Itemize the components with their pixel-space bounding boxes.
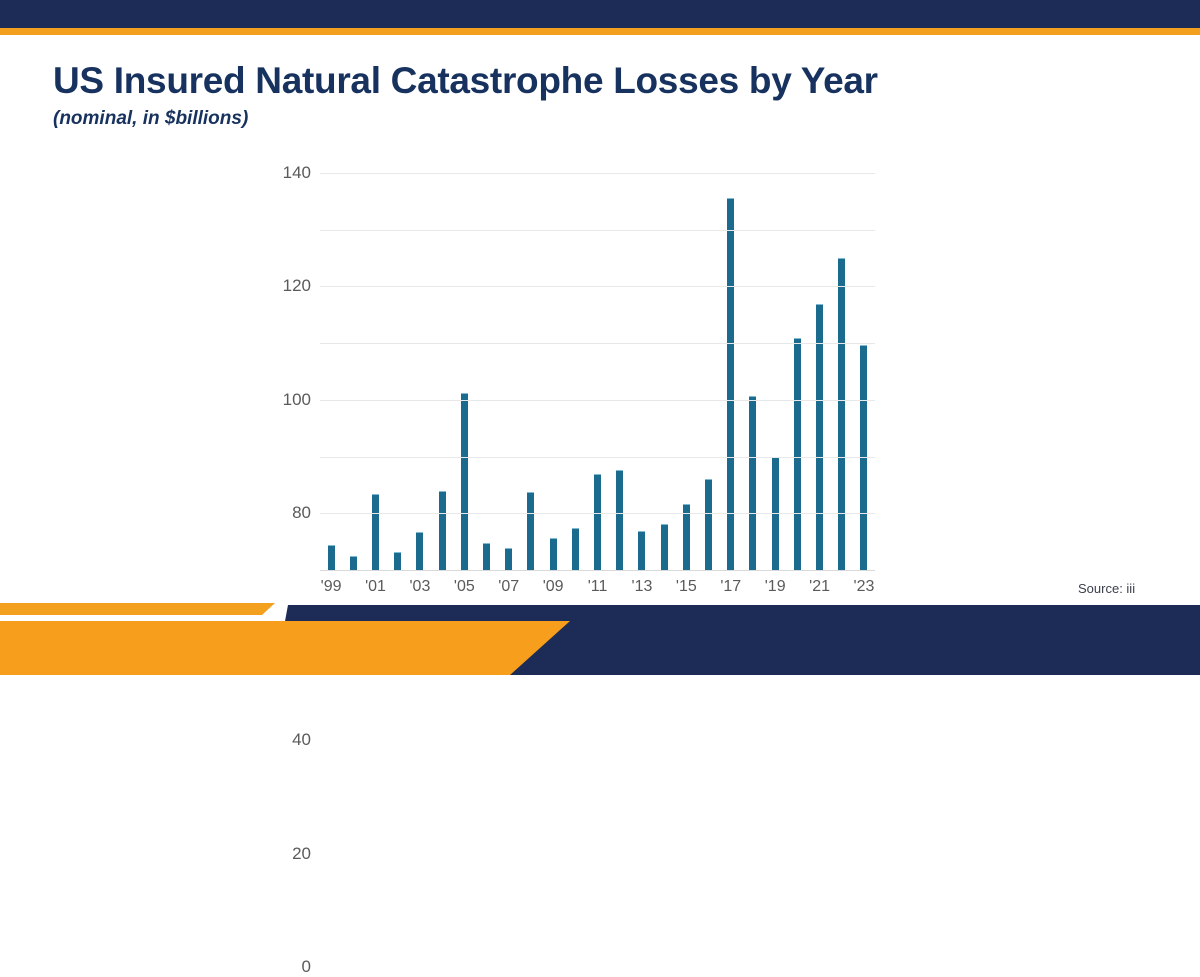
chart-plot-area: 020406080100120140 bbox=[320, 173, 875, 570]
chart-bar[interactable] bbox=[638, 531, 645, 570]
y-axis-tick-label: 0 bbox=[302, 957, 311, 977]
top-banner bbox=[0, 0, 1200, 28]
chart-bar[interactable] bbox=[838, 258, 845, 570]
chart-bar[interactable] bbox=[550, 538, 557, 570]
bar-slot bbox=[431, 173, 453, 570]
page-title: US Insured Natural Catastrophe Losses by… bbox=[53, 58, 1103, 104]
bar-slot bbox=[853, 173, 875, 570]
gridline: 100 bbox=[320, 286, 875, 287]
bar-slot bbox=[675, 173, 697, 570]
bar-slot bbox=[320, 173, 342, 570]
bar-slot bbox=[342, 173, 364, 570]
chart-bar[interactable] bbox=[416, 532, 423, 570]
y-axis-tick-label: 40 bbox=[292, 730, 311, 750]
chart-bar[interactable] bbox=[394, 552, 401, 570]
bar-slot bbox=[720, 173, 742, 570]
chart-bars bbox=[320, 173, 875, 570]
chart-bar[interactable] bbox=[527, 492, 534, 570]
bar-slot bbox=[409, 173, 431, 570]
bar-slot bbox=[742, 173, 764, 570]
bar-slot bbox=[498, 173, 520, 570]
bar-slot bbox=[453, 173, 475, 570]
chart-bar[interactable] bbox=[594, 474, 601, 570]
y-axis-tick-label: 100 bbox=[283, 390, 311, 410]
page-subtitle: (nominal, in $billions) bbox=[53, 107, 1103, 131]
bar-slot bbox=[364, 173, 386, 570]
gridline: 20 bbox=[320, 513, 875, 514]
chart-bar[interactable] bbox=[749, 396, 756, 570]
gridline: 120 bbox=[320, 230, 875, 231]
bottom-decoration-shapes bbox=[0, 585, 1200, 675]
gridline: 80 bbox=[320, 343, 875, 344]
bar-slot bbox=[564, 173, 586, 570]
gridline: 60 bbox=[320, 400, 875, 401]
chart-bar[interactable] bbox=[350, 556, 357, 570]
chart-bar[interactable] bbox=[661, 524, 668, 570]
y-axis-tick-label: 120 bbox=[283, 276, 311, 296]
chart-bar[interactable] bbox=[439, 491, 446, 570]
bar-slot bbox=[387, 173, 409, 570]
bar-slot bbox=[653, 173, 675, 570]
y-axis-tick-label: 20 bbox=[292, 844, 311, 864]
gridline: 40 bbox=[320, 457, 875, 458]
bar-slot bbox=[631, 173, 653, 570]
bar-chart: 020406080100120140 '99 '01 '03 '05 '07 '… bbox=[262, 160, 892, 600]
bar-slot bbox=[475, 173, 497, 570]
bar-slot bbox=[697, 173, 719, 570]
y-axis-tick-label: 140 bbox=[283, 163, 311, 183]
top-accent-bar bbox=[0, 28, 1200, 35]
axis-baseline: 0 bbox=[320, 570, 875, 571]
bar-slot bbox=[586, 173, 608, 570]
bar-slot bbox=[764, 173, 786, 570]
title-block: US Insured Natural Catastrophe Losses by… bbox=[53, 58, 1103, 131]
chart-bar[interactable] bbox=[328, 545, 335, 570]
gridline: 140 bbox=[320, 173, 875, 174]
chart-bar[interactable] bbox=[572, 528, 579, 570]
chart-bar[interactable] bbox=[461, 393, 468, 570]
bar-slot bbox=[609, 173, 631, 570]
chart-bar[interactable] bbox=[705, 479, 712, 570]
chart-bar[interactable] bbox=[483, 543, 490, 570]
y-axis-tick-label: 80 bbox=[292, 503, 311, 523]
bar-slot bbox=[542, 173, 564, 570]
chart-bar[interactable] bbox=[505, 548, 512, 570]
chart-bar[interactable] bbox=[794, 338, 801, 570]
bar-slot bbox=[808, 173, 830, 570]
chart-bar[interactable] bbox=[372, 494, 379, 570]
chart-bar[interactable] bbox=[616, 470, 623, 570]
bottom-decoration bbox=[0, 585, 1200, 675]
bar-slot bbox=[831, 173, 853, 570]
bar-slot bbox=[520, 173, 542, 570]
bar-slot bbox=[786, 173, 808, 570]
